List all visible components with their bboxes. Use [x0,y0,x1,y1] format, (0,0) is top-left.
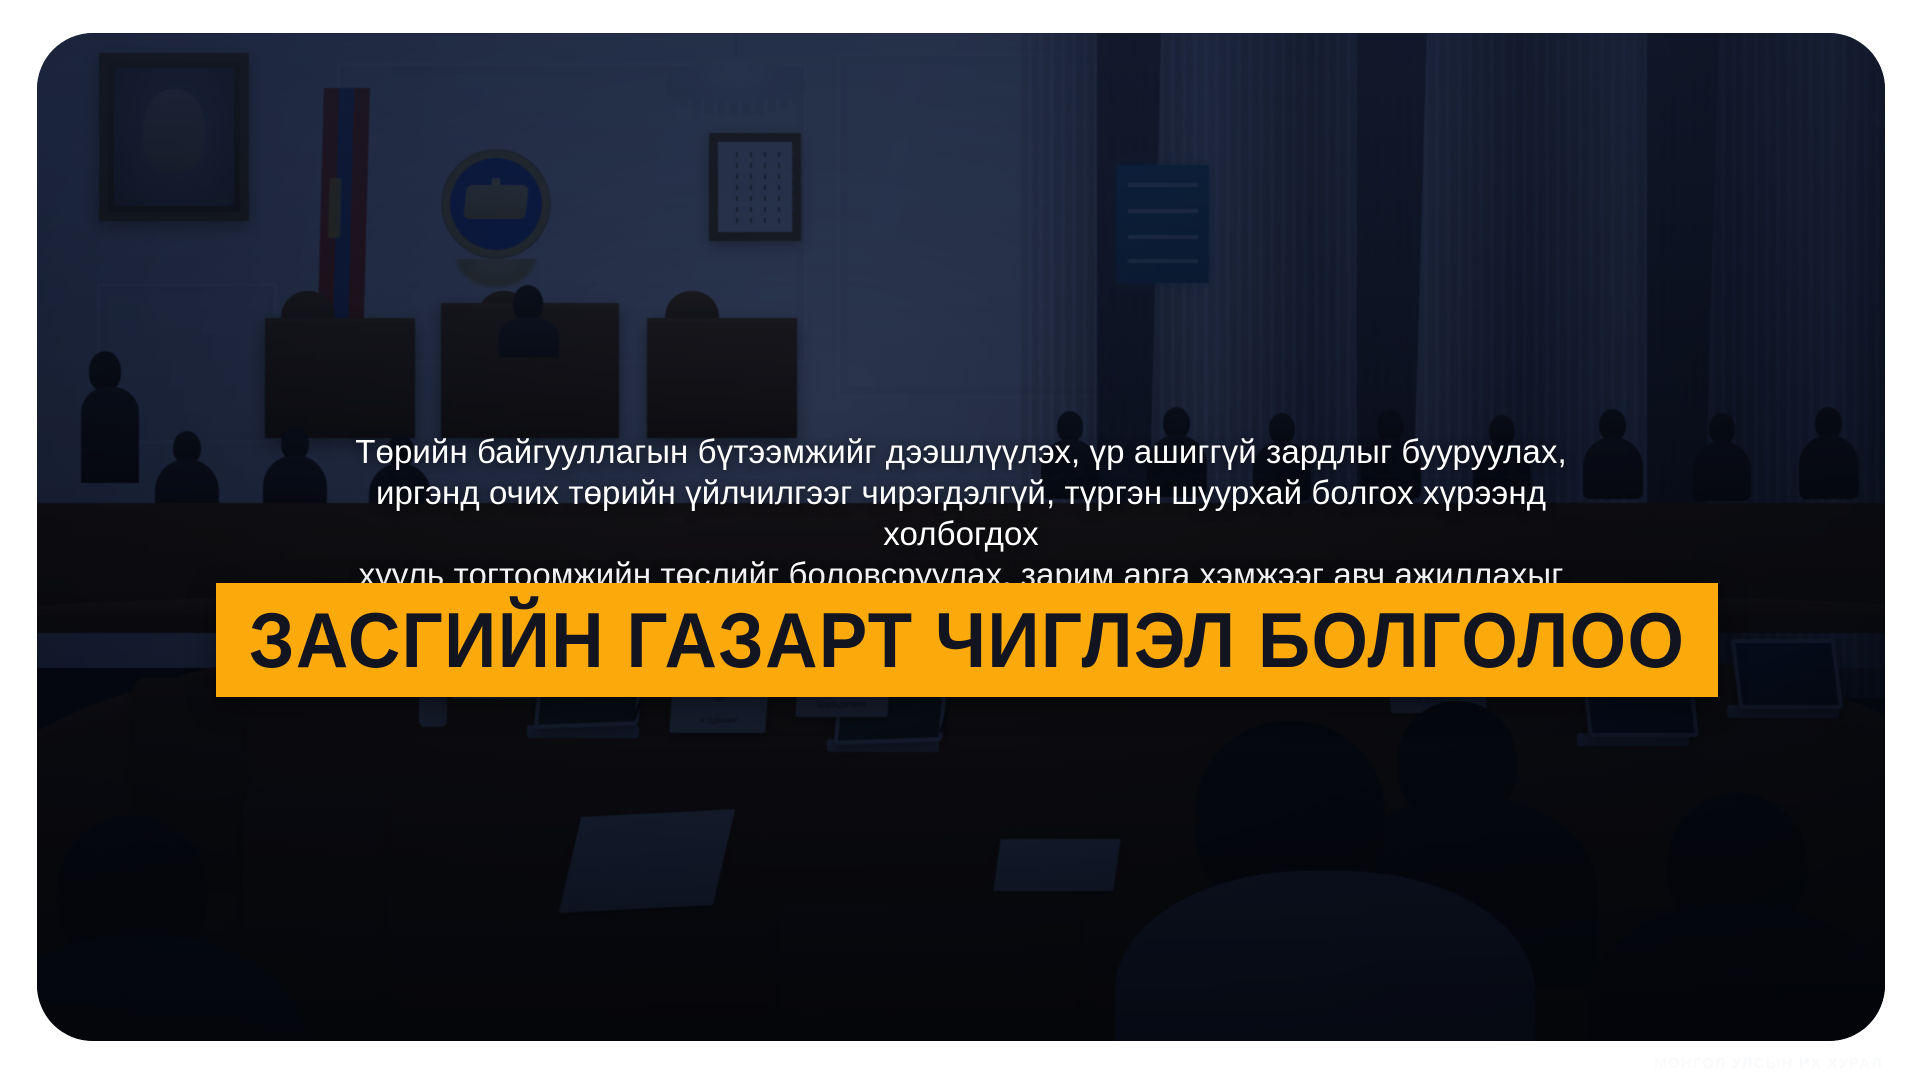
lede-line-1: Төрийн байгууллагын бүтээмжийг дээшлүүлэ… [296,431,1626,472]
lede-paragraph: Төрийн байгууллагын бүтээмжийг дээшлүүлэ… [37,431,1885,595]
watermark-label: МОНГОЛ УЛСЫН ИХ ХУРАЛ [1654,1055,1883,1072]
lede-line-2: иргэнд очих төрийн үйлчилгээг чирэгдэлгү… [296,472,1626,554]
headline-text: ЗАСГИЙН ГАЗАРТ ЧИГЛЭЛ БОЛГОЛОО [249,601,1685,679]
headline-banner: ЗАСГИЙН ГАЗАРТ ЧИГЛЭЛ БОЛГОЛОО [216,583,1718,697]
news-card: Ж.БАЯСГАЛАН Э.ОДБАЯР Ц.ЦЭЦЭГМАА Л.ЭНХБОЛ… [37,33,1885,1041]
